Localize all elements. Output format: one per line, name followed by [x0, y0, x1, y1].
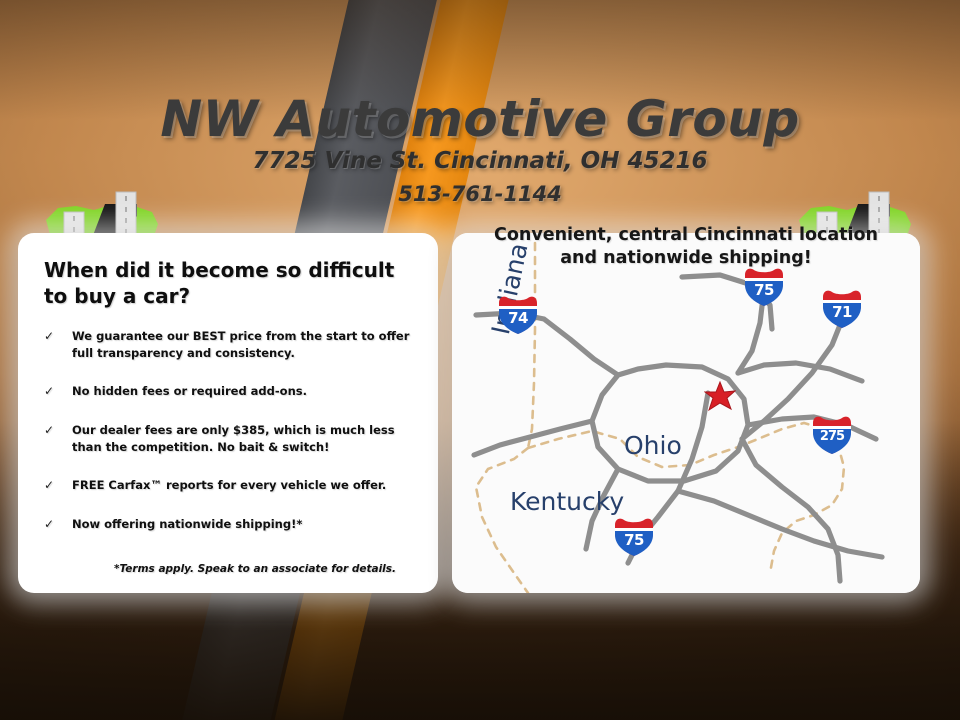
shield-number: 275	[810, 429, 854, 444]
page-title: NW Automotive Group	[0, 90, 960, 148]
interstate-shield-275-icon: 275	[810, 413, 854, 455]
interstate-shield-71-icon: 71	[820, 287, 864, 329]
business-address: 7725 Vine St. Cincinnati, OH 45216	[0, 148, 960, 174]
list-item-text: No hidden fees or required add-ons.	[72, 384, 307, 398]
state-label-kentucky: Kentucky	[510, 487, 624, 516]
check-icon: ✓	[44, 422, 54, 439]
list-item-text: We guarantee our BEST price from the sta…	[72, 329, 409, 360]
check-icon: ✓	[44, 328, 54, 345]
dealership-location-star-icon	[704, 381, 736, 413]
list-item: ✓ No hidden fees or required add-ons.	[44, 383, 424, 400]
shield-number: 75	[612, 531, 656, 549]
terms-disclaimer: *Terms apply. Speak to an associate for …	[114, 563, 414, 575]
interstate-shield-74-icon: 74	[496, 293, 540, 335]
list-item: ✓ We guarantee our BEST price from the s…	[44, 328, 424, 361]
list-item-text: Our dealer fees are only $385, which is …	[72, 423, 395, 454]
check-icon: ✓	[44, 383, 54, 400]
shield-number: 74	[496, 309, 540, 327]
check-icon: ✓	[44, 477, 54, 494]
state-label-ohio: Ohio	[624, 431, 682, 460]
value-proposition-panel: When did it become so difficult to buy a…	[18, 233, 438, 593]
map-title: Convenient, central Cincinnati location …	[452, 224, 920, 270]
benefits-list: ✓ We guarantee our BEST price from the s…	[44, 328, 424, 555]
map-canvas: Indiana Ohio Kentucky 74 75	[452, 233, 920, 593]
map-title-line-2: and nationwide shipping!	[452, 247, 920, 270]
header: NW Automotive Group 7725 Vine St. Cincin…	[0, 86, 960, 236]
shield-number: 75	[742, 281, 786, 299]
list-item-text: FREE Carfax™ reports for every vehicle w…	[72, 478, 386, 492]
slide-canvas: NW Automotive Group 7725 Vine St. Cincin…	[0, 0, 960, 720]
list-item: ✓ Our dealer fees are only $385, which i…	[44, 422, 424, 455]
check-icon: ✓	[44, 516, 54, 533]
list-item: ✓ Now offering nationwide shipping!*	[44, 516, 424, 533]
map-title-line-1: Convenient, central Cincinnati location	[452, 224, 920, 247]
shield-number: 71	[820, 303, 864, 321]
interstate-shield-75-icon: 75	[612, 515, 656, 557]
location-map-panel: Indiana Ohio Kentucky 74 75	[452, 233, 920, 593]
interstate-shield-75-icon: 75	[742, 265, 786, 307]
list-item-text: Now offering nationwide shipping!*	[72, 517, 302, 531]
list-item: ✓ FREE Carfax™ reports for every vehicle…	[44, 477, 424, 494]
panel-headline: When did it become so difficult to buy a…	[44, 257, 410, 310]
